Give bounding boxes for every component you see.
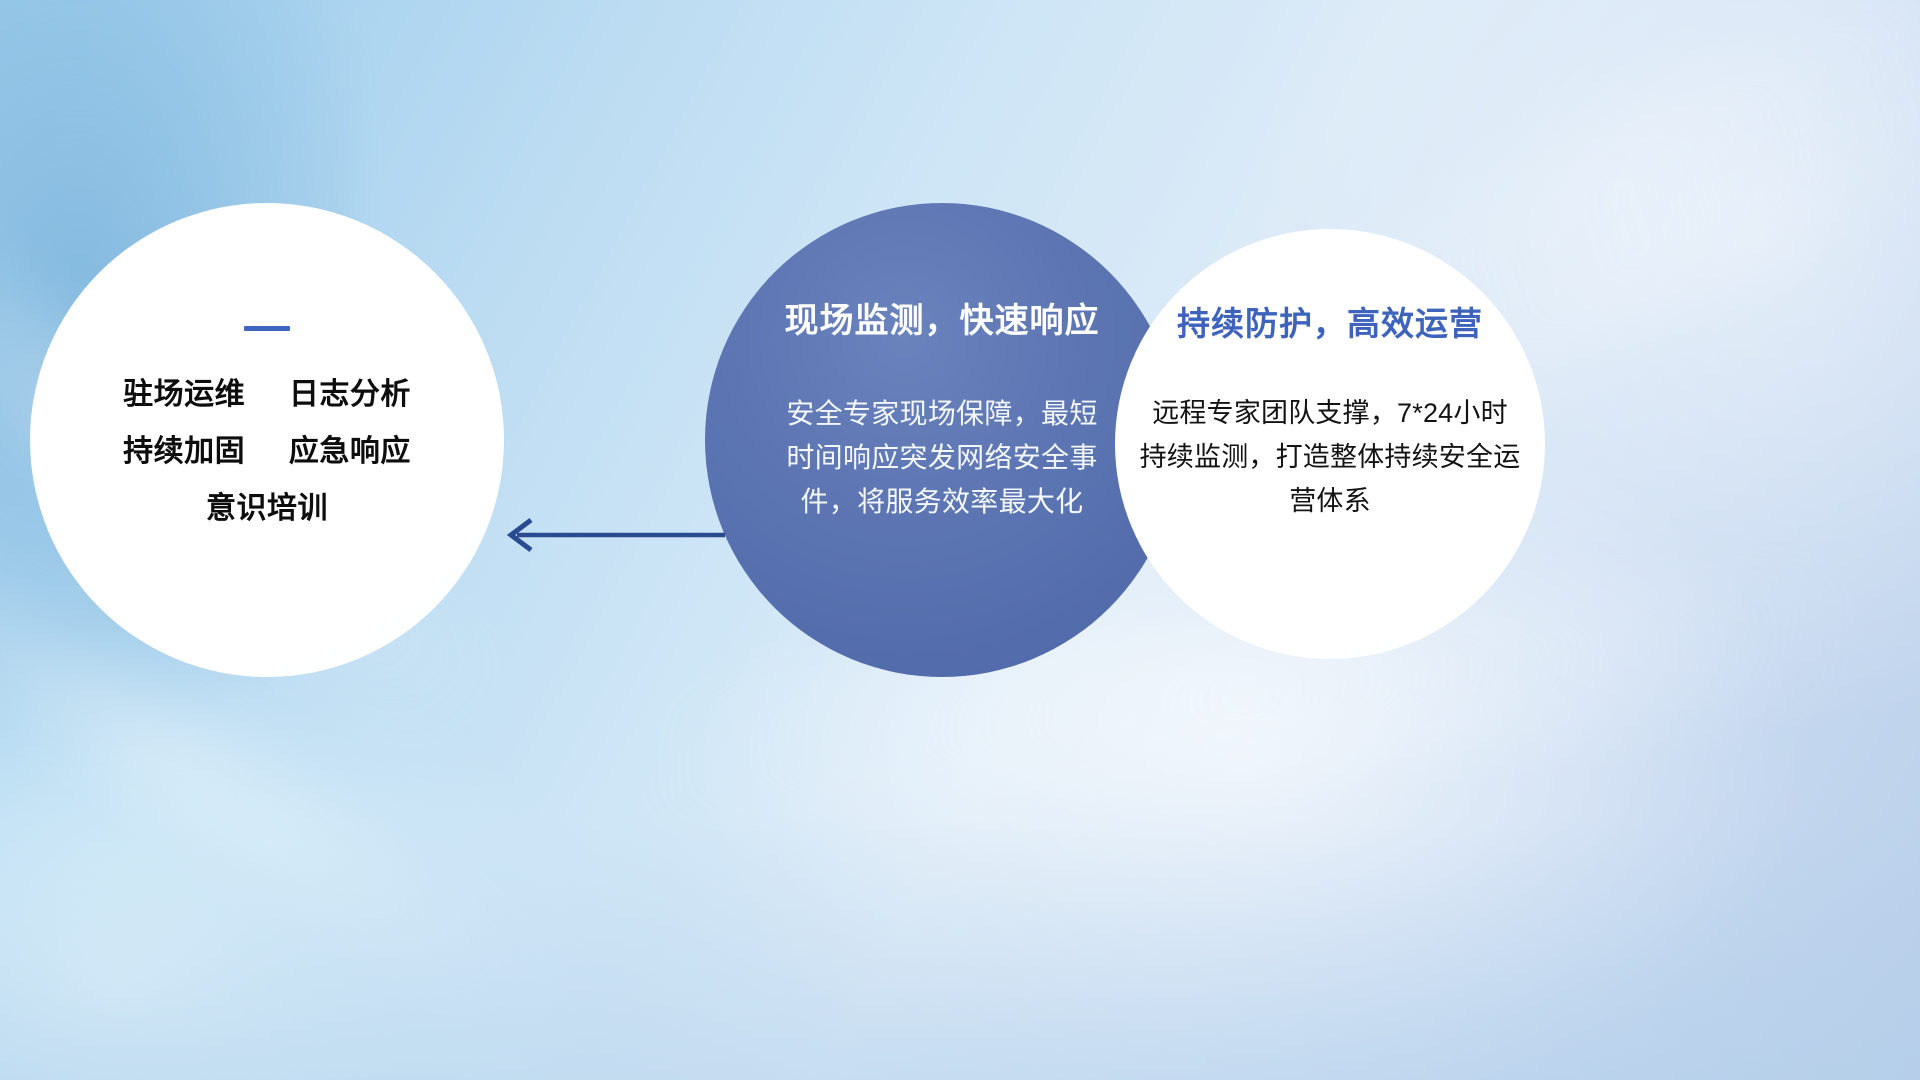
tag-label: 日志分析 <box>289 378 411 411</box>
list-item: 持续加固 应急响应 <box>123 423 411 480</box>
continuous-protection-title: 持续防护，高效运营 <box>1177 297 1483 345</box>
list-item: 意识培训 <box>123 480 411 537</box>
list-item: 驻场运维 日志分析 <box>123 366 411 423</box>
tag-label: 驻场运维 <box>123 378 245 411</box>
tag-label: 应急响应 <box>289 435 411 468</box>
onsite-monitoring-circle: 现场监测，快速响应 安全专家现场保障，最短时间响应突发网络安全事件，将服务效率最… <box>705 203 1179 677</box>
horizontal-dash-icon <box>244 326 290 331</box>
continuous-protection-body: 远程专家团队支撑，7*24小时持续监测，打造整体持续安全运营体系 <box>1139 391 1521 523</box>
left-pointing-arrow <box>495 515 725 555</box>
capability-tags-circle: 驻场运维 日志分析 持续加固 应急响应 意识培训 <box>30 203 504 677</box>
continuous-protection-circle: 持续防护，高效运营 远程专家团队支撑，7*24小时持续监测，打造整体持续安全运营… <box>1115 229 1545 659</box>
slide-canvas: 驻场运维 日志分析 持续加固 应急响应 意识培训 现场监测，快速响应 安全专家现… <box>0 0 1920 1080</box>
tag-label: 持续加固 <box>123 435 245 468</box>
onsite-monitoring-body: 安全专家现场保障，最短时间响应突发网络安全事件，将服务效率最大化 <box>784 392 1100 524</box>
arrow-left-icon <box>511 520 725 550</box>
background-bottom-wash <box>0 820 1920 1080</box>
capability-tag-list: 驻场运维 日志分析 持续加固 应急响应 意识培训 <box>123 366 411 537</box>
tag-label: 意识培训 <box>206 492 328 525</box>
onsite-monitoring-title: 现场监测，快速响应 <box>785 293 1100 342</box>
